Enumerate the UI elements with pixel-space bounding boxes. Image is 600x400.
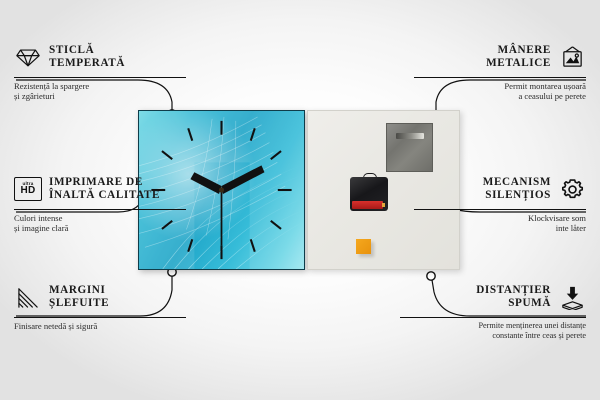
feature-description: Permite menținerea unei distanțe constan… — [400, 321, 586, 342]
feature-title: MÂNERE METALICE — [486, 44, 551, 70]
feature-description: Permit montarea ușoară a ceasului pe per… — [414, 81, 586, 102]
feature-head: MARGINI ȘLEFUITE — [14, 280, 186, 314]
feature-divider — [14, 317, 186, 318]
diamond-icon — [14, 43, 42, 71]
ultra-hd-badge-main: HD — [20, 186, 35, 196]
feature-head: ultra HD IMPRIMARE DE ÎNALTĂ CALITATE — [14, 172, 186, 206]
product-image — [138, 110, 460, 270]
polished-edges-icon — [14, 283, 42, 311]
tick-10 — [162, 151, 172, 159]
tick-11 — [188, 128, 192, 140]
feature-metal-handles: MÂNERE METALICE Permit montarea ușoară a… — [414, 40, 586, 102]
down-arrow-stack-icon — [558, 283, 586, 311]
feature-head: MÂNERE METALICE — [414, 40, 586, 74]
tick-2 — [271, 151, 281, 159]
feature-description: Rezistență la spargere și zgârieturi — [14, 81, 186, 102]
foam-spacer-part — [356, 239, 371, 254]
feature-head: MECANISM SILENȚIOS — [414, 172, 586, 206]
feature-head: STICLĂ TEMPERATĂ — [14, 40, 186, 74]
feature-description: Culori intense și imagine clară — [14, 213, 186, 234]
feature-divider — [400, 317, 586, 318]
second-hand — [221, 190, 223, 245]
feature-divider — [414, 209, 586, 210]
tick-4 — [271, 221, 281, 229]
feature-foam-spacer: DISTANȚIER SPUMĂ Permite menținerea unei… — [400, 280, 586, 342]
feature-tempered-glass: STICLĂ TEMPERATĂ Rezistență la spargere … — [14, 40, 186, 102]
product-feature-infographic: STICLĂ TEMPERATĂ Rezistență la spargere … — [0, 0, 600, 400]
feature-polished-edges: MARGINI ȘLEFUITE Finisare netedă și sigu… — [14, 280, 186, 331]
tick-1 — [251, 128, 255, 140]
ultra-hd-icon: ultra HD — [14, 175, 42, 203]
feature-divider — [414, 77, 586, 78]
minute-hand — [222, 165, 265, 194]
hour-hand — [190, 172, 221, 194]
metal-hanger-part — [386, 123, 433, 172]
feature-head: DISTANȚIER SPUMĂ — [400, 280, 586, 314]
feature-divider — [14, 209, 186, 210]
picture-hanger-icon — [558, 43, 586, 71]
mechanism-body — [350, 177, 388, 211]
tick-7 — [188, 239, 192, 251]
feature-title: MECANISM SILENȚIOS — [483, 176, 551, 202]
hanger-slot — [396, 133, 424, 139]
feature-title: IMPRIMARE DE ÎNALTĂ CALITATE — [49, 176, 160, 202]
clock-center-cap — [219, 187, 224, 192]
endpoint-spacer — [427, 272, 435, 280]
feature-title: MARGINI ȘLEFUITE — [49, 284, 109, 310]
feature-silent-mechanism: MECANISM SILENȚIOS Klockvisare som inte … — [414, 172, 586, 234]
battery — [352, 201, 383, 209]
gear-icon — [558, 175, 586, 203]
clock-mechanism-part — [350, 173, 388, 211]
feature-description: Finisare netedă și sigură — [14, 321, 186, 331]
feature-divider — [14, 77, 186, 78]
feature-high-quality-print: ultra HD IMPRIMARE DE ÎNALTĂ CALITATE Cu… — [14, 172, 186, 234]
feature-description: Klockvisare som inte låter — [414, 213, 586, 234]
tick-5 — [251, 239, 255, 251]
feature-title: STICLĂ TEMPERATĂ — [49, 44, 125, 70]
feature-title: DISTANȚIER SPUMĂ — [476, 284, 551, 310]
